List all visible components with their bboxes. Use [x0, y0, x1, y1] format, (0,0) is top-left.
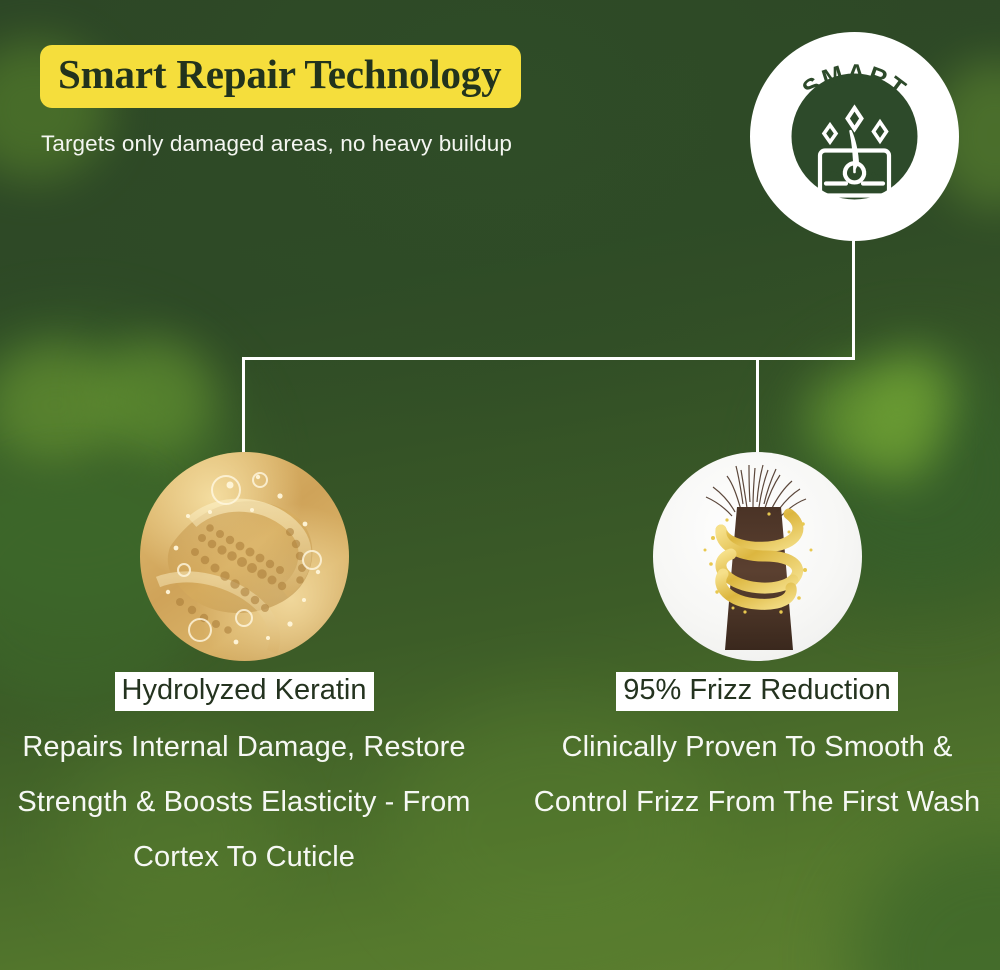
feature-caption-frizz: 95% Frizz Reduction Clinically Proven To… — [527, 672, 987, 830]
connector-line-vertical-seal — [852, 241, 855, 359]
smart-repair-seal: SMART REPAIR — [750, 32, 959, 241]
connector-line-horizontal — [242, 357, 855, 360]
bokeh-blob — [805, 370, 900, 465]
hair-strand-art — [653, 452, 862, 661]
feature-image-keratin — [140, 452, 349, 661]
feature-body-frizz: Clinically Proven To Smooth & Control Fr… — [527, 720, 987, 830]
feature-image-frizz — [653, 452, 862, 661]
bokeh-blob — [95, 340, 215, 455]
feature-label-frizz: 95% Frizz Reduction — [616, 672, 898, 711]
page-title: Smart Repair Technology — [58, 54, 501, 95]
bokeh-blob — [855, 400, 940, 485]
keratin-texture-detail — [140, 452, 349, 661]
feature-caption-keratin: Hydrolyzed Keratin Repairs Internal Dama… — [14, 672, 474, 885]
bokeh-blob — [0, 345, 120, 465]
smart-repair-infographic: Smart Repair Technology Targets only dam… — [0, 0, 1000, 970]
page-subtitle: Targets only damaged areas, no heavy bui… — [41, 131, 512, 157]
feature-label-keratin: Hydrolyzed Keratin — [115, 672, 374, 711]
bokeh-blob — [865, 350, 955, 440]
title-badge: Smart Repair Technology — [40, 45, 521, 108]
bokeh-blob — [850, 830, 1000, 970]
feature-body-keratin: Repairs Internal Damage, Restore Strengt… — [14, 720, 474, 885]
